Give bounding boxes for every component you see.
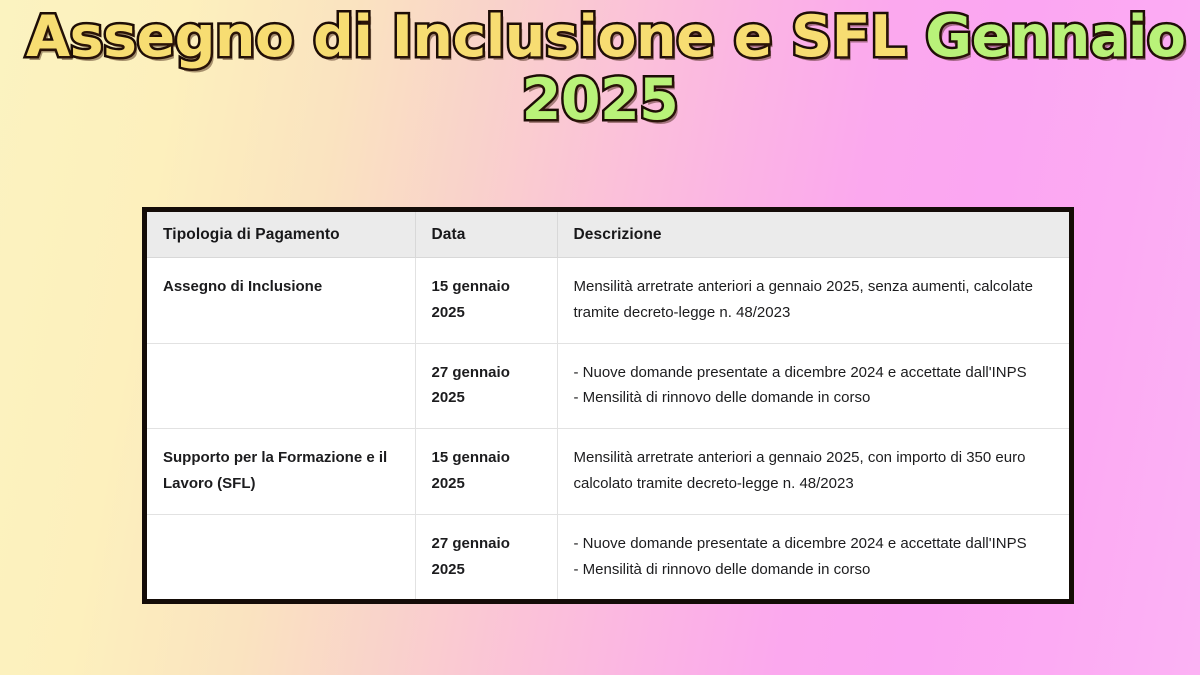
cell-tipologia: Supporto per la Formazione e il Lavoro (… bbox=[147, 429, 415, 515]
column-header-data: Data bbox=[415, 212, 557, 258]
title-text-yellow: Assegno di Inclusione e SFL bbox=[26, 4, 925, 70]
cell-descrizione: Mensilità arretrate anteriori a gennaio … bbox=[557, 258, 1069, 344]
payment-schedule-table: Tipologia di Pagamento Data Descrizione … bbox=[142, 207, 1074, 604]
column-header-descrizione: Descrizione bbox=[557, 212, 1069, 258]
cell-data: 27 gennaio 2025 bbox=[415, 343, 557, 429]
table-row: Supporto per la Formazione e il Lavoro (… bbox=[147, 429, 1069, 515]
cell-data: 27 gennaio 2025 bbox=[415, 514, 557, 599]
table-header: Tipologia di Pagamento Data Descrizione bbox=[147, 212, 1069, 258]
title-line-2: 2025 bbox=[26, 71, 1174, 130]
description-line: Mensilità arretrate anteriori a gennaio … bbox=[574, 445, 1054, 497]
payment-table: Tipologia di Pagamento Data Descrizione … bbox=[147, 212, 1069, 599]
description-line: - Nuove domande presentate a dicembre 20… bbox=[574, 531, 1054, 557]
description-line: - Mensilità di rinnovo delle domande in … bbox=[574, 557, 1054, 583]
description-line: - Nuove domande presentate a dicembre 20… bbox=[574, 360, 1054, 386]
column-header-tipologia: Tipologia di Pagamento bbox=[147, 212, 415, 258]
title-text-green: Gennaio bbox=[925, 4, 1185, 70]
table-row: 27 gennaio 2025 - Nuove domande presenta… bbox=[147, 343, 1069, 429]
cell-data: 15 gennaio 2025 bbox=[415, 429, 557, 515]
description-line: - Mensilità di rinnovo delle domande in … bbox=[574, 385, 1054, 411]
cell-descrizione: - Nuove domande presentate a dicembre 20… bbox=[557, 343, 1069, 429]
table-header-row: Tipologia di Pagamento Data Descrizione bbox=[147, 212, 1069, 258]
table-body: Assegno di Inclusione 15 gennaio 2025 Me… bbox=[147, 258, 1069, 600]
title-year: 2025 bbox=[522, 67, 679, 133]
description-line: Mensilità arretrate anteriori a gennaio … bbox=[574, 274, 1054, 326]
cell-data: 15 gennaio 2025 bbox=[415, 258, 557, 344]
cell-descrizione: Mensilità arretrate anteriori a gennaio … bbox=[557, 429, 1069, 515]
cell-descrizione: - Nuove domande presentate a dicembre 20… bbox=[557, 514, 1069, 599]
table-row: Assegno di Inclusione 15 gennaio 2025 Me… bbox=[147, 258, 1069, 344]
cell-tipologia bbox=[147, 514, 415, 599]
page-title: Assegno di Inclusione e SFL Gennaio 2025 bbox=[0, 8, 1200, 131]
poster-canvas: Assegno di Inclusione e SFL Gennaio 2025… bbox=[0, 0, 1200, 675]
cell-tipologia: Assegno di Inclusione bbox=[147, 258, 415, 344]
cell-tipologia bbox=[147, 343, 415, 429]
title-line-1: Assegno di Inclusione e SFL Gennaio bbox=[26, 8, 1174, 67]
table-row: 27 gennaio 2025 - Nuove domande presenta… bbox=[147, 514, 1069, 599]
